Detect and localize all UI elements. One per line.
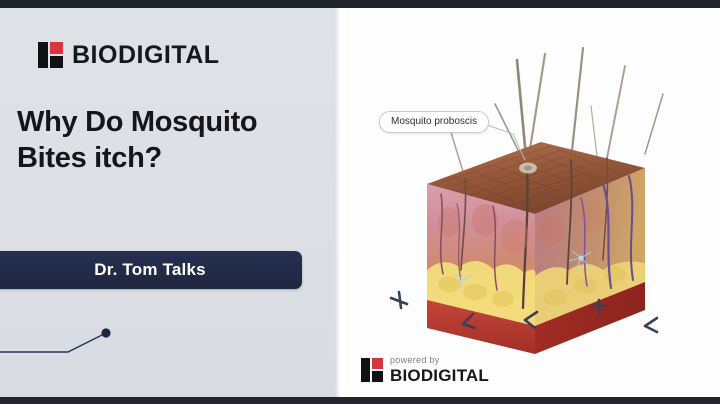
- page-title: Why Do Mosquito Bites itch?: [17, 105, 317, 177]
- brand-lockup: BIODIGITAL: [38, 42, 220, 68]
- logo-bar-shape-footer: [361, 358, 370, 382]
- letterbox-bar-top: [0, 0, 720, 8]
- letterbox-bar-bottom: [0, 397, 720, 404]
- logo-black-square-shape-footer: [372, 371, 383, 382]
- brand-wordmark: BIODIGITAL: [72, 43, 220, 68]
- powered-by-biodigital: powered by BIODIGITAL: [361, 356, 489, 384]
- callout-mosquito-proboscis[interactable]: Mosquito proboscis: [379, 111, 489, 133]
- accent-dot-shape: [101, 328, 110, 337]
- skin-cross-section-model[interactable]: [345, 8, 720, 397]
- callout-label: Mosquito proboscis: [379, 111, 489, 133]
- video-slide: BIODIGITAL Why Do Mosquito Bites itch? D…: [0, 0, 720, 404]
- biodigital-logo-icon: [38, 42, 63, 68]
- powered-by-label: powered by: [390, 356, 489, 365]
- logo-black-square-shape: [50, 56, 63, 68]
- powered-by-wordmark: BIODIGITAL: [390, 367, 489, 384]
- proboscis-entry-point: [519, 163, 537, 174]
- panel-divider: [335, 8, 340, 397]
- right-model-panel: Mosquito proboscis powered by BIODIGITAL: [345, 8, 720, 397]
- dr-tom-talks-button[interactable]: Dr. Tom Talks: [0, 251, 302, 289]
- biodigital-logo-icon-footer: [361, 358, 383, 382]
- logo-bar-shape: [38, 42, 48, 68]
- left-title-panel: BIODIGITAL Why Do Mosquito Bites itch? D…: [0, 8, 340, 397]
- logo-red-square-shape-footer: [372, 358, 383, 369]
- accent-polyline-shape: [0, 334, 104, 352]
- accent-line-decoration: [0, 326, 130, 364]
- dr-tom-talks-button-label: Dr. Tom Talks: [80, 260, 206, 280]
- logo-red-square-shape: [50, 42, 63, 54]
